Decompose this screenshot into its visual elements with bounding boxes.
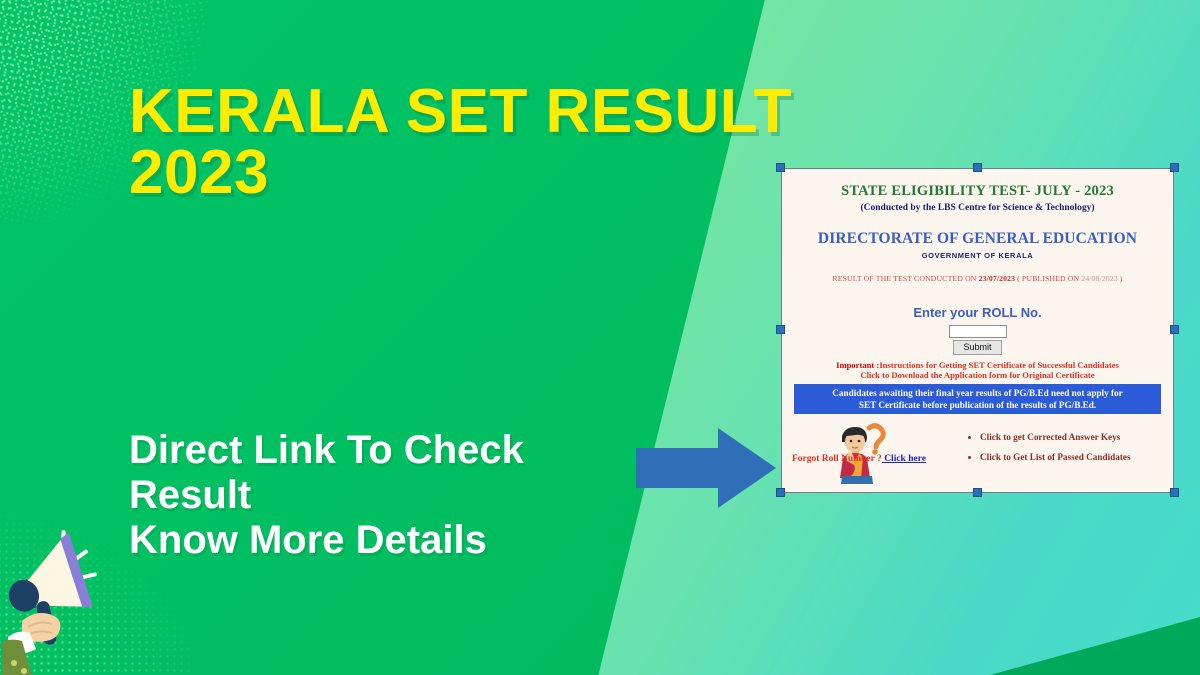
list-item[interactable]: Click to Get List of Passed Candidates [980,452,1131,462]
forgot-roll-number-text: Forgot Roll Number ? [792,454,882,464]
selection-handle-bottom-center[interactable] [973,488,982,497]
important-line-1[interactable]: Important :Instructions for Getting SET … [790,360,1165,370]
megaphone-announcement-icon [2,505,120,675]
blue-banner-line-1: Candidates awaiting their final year res… [798,387,1157,399]
page-title: Kerala SET Result 2023 [129,82,809,204]
result-website-screenshot[interactable]: STATE ELIGIBILITY TEST- JULY - 2023 (Con… [781,168,1174,493]
set-exam-subtitle: (Conducted by the LBS Centre for Science… [790,203,1165,213]
published-suffix-text: ) [1118,274,1123,283]
selection-handle-bottom-left[interactable] [776,488,785,497]
conducted-date: 23/07/2023 [979,274,1016,283]
government-label: GOVERNMENT OF KERALA [790,251,1165,260]
selection-handle-middle-right[interactable] [1170,325,1179,334]
important-instruction-link[interactable]: Instructions for Getting SET Certificate… [879,360,1119,370]
submit-button[interactable]: Submit [953,340,1001,355]
important-line-2[interactable]: Click to Download the Application form f… [790,370,1165,380]
action-links-list: Click to get Corrected Answer Keys Click… [966,432,1131,472]
forgot-roll-number-link[interactable]: Click here [882,454,926,464]
selection-handle-top-right[interactable] [1170,163,1179,172]
directorate-title: DIRECTORATE OF GENERAL EDUCATION [790,230,1165,248]
important-label: Important : [836,360,879,370]
list-item[interactable]: Click to get Corrected Answer Keys [980,432,1131,442]
roll-number-label: Enter your ROLL No. [790,305,1165,320]
right-arrow-icon [636,426,776,510]
forgot-roll-number-row: Forgot Roll Number ? Click here [792,454,926,464]
published-prefix-text: ( PUBLISHED ON [1015,274,1081,283]
selection-handle-top-center[interactable] [973,163,982,172]
selection-handle-middle-left[interactable] [776,325,785,334]
subtitle-line-3: Know More Details [129,518,689,563]
published-date: 24/08/2023 [1081,274,1118,283]
result-date-line: RESULT OF THE TEST CONDUCTED ON 23/07/20… [790,274,1165,283]
roll-number-input[interactable] [949,325,1007,338]
blue-banner-line-2: SET Certificate before publication of th… [798,399,1157,411]
selection-handle-bottom-right[interactable] [1170,488,1179,497]
selection-handle-top-left[interactable] [776,163,785,172]
set-exam-title: STATE ELIGIBILITY TEST- JULY - 2023 [790,183,1165,200]
subtitle-line-1: Direct Link To Check [129,428,689,473]
blue-notice-banner: Candidates awaiting their final year res… [794,384,1161,414]
page-subtitle: Direct Link To Check Result Know More De… [129,428,689,562]
important-instructions-block: Important :Instructions for Getting SET … [790,360,1165,381]
result-prefix-text: RESULT OF THE TEST CONDUCTED ON [832,274,978,283]
subtitle-line-2: Result [129,473,689,518]
